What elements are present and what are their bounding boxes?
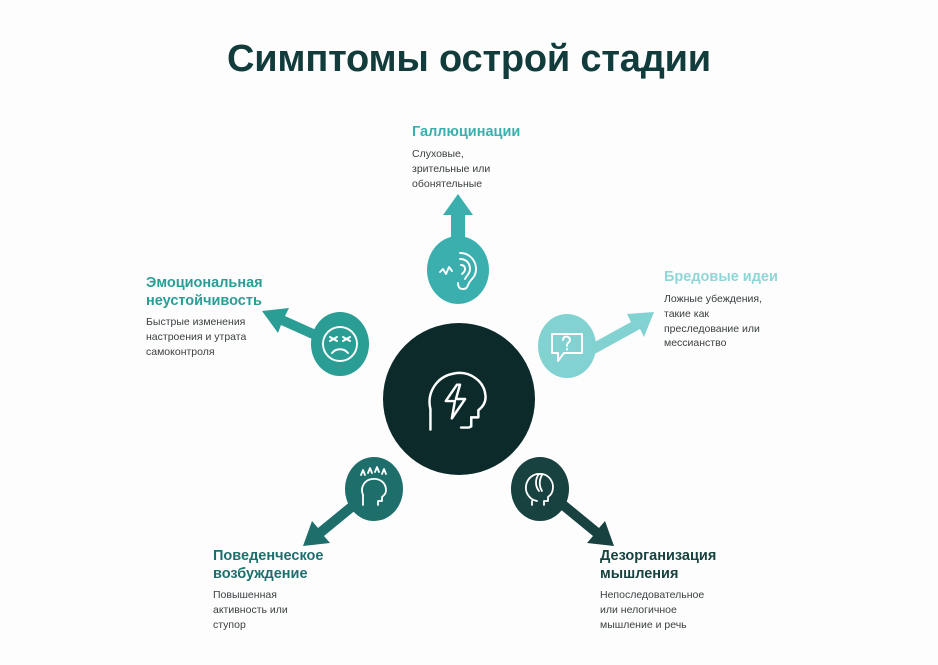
callout-desc-agitation: Повышенная активность или ступор	[213, 588, 403, 633]
center-node	[383, 323, 535, 475]
callout-heading-hallucinations: Галлюцинации	[412, 124, 602, 142]
callout-emotional: Эмоциональная неустойчивость Быстрые изм…	[146, 275, 322, 360]
node-disorganized[interactable]	[511, 457, 569, 521]
callout-delusions: Бредовые идеи Ложные убеждения, такие ка…	[664, 269, 864, 351]
callout-agitation: Поведенческое возбуждение Повышенная акт…	[213, 548, 403, 633]
callout-hallucinations: Галлюцинации Слуховые, зрительные или об…	[412, 124, 602, 191]
callout-desc-disorganized: Непоследовательное или нелогичное мышлен…	[600, 588, 810, 633]
callout-heading-agitation: Поведенческое возбуждение	[213, 548, 403, 583]
callout-disorganized: Дезорганизация мышления Непоследовательн…	[600, 548, 810, 633]
callout-heading-delusions: Бредовые идеи	[664, 269, 864, 287]
node-hallucinations[interactable]	[427, 236, 489, 304]
callout-heading-disorganized: Дезорганизация мышления	[600, 548, 810, 583]
callout-desc-emotional: Быстрые изменения настроения и утрата са…	[146, 315, 322, 360]
callout-desc-delusions: Ложные убеждения, такие как преследовани…	[664, 292, 864, 352]
callout-heading-emotional: Эмоциональная неустойчивость	[146, 275, 322, 310]
node-delusions[interactable]	[538, 314, 596, 378]
callout-desc-hallucinations: Слуховые, зрительные или обонятельные	[412, 147, 602, 192]
infographic-canvas: Симптомы острой стадии	[0, 0, 938, 665]
node-agitation[interactable]	[345, 457, 403, 521]
